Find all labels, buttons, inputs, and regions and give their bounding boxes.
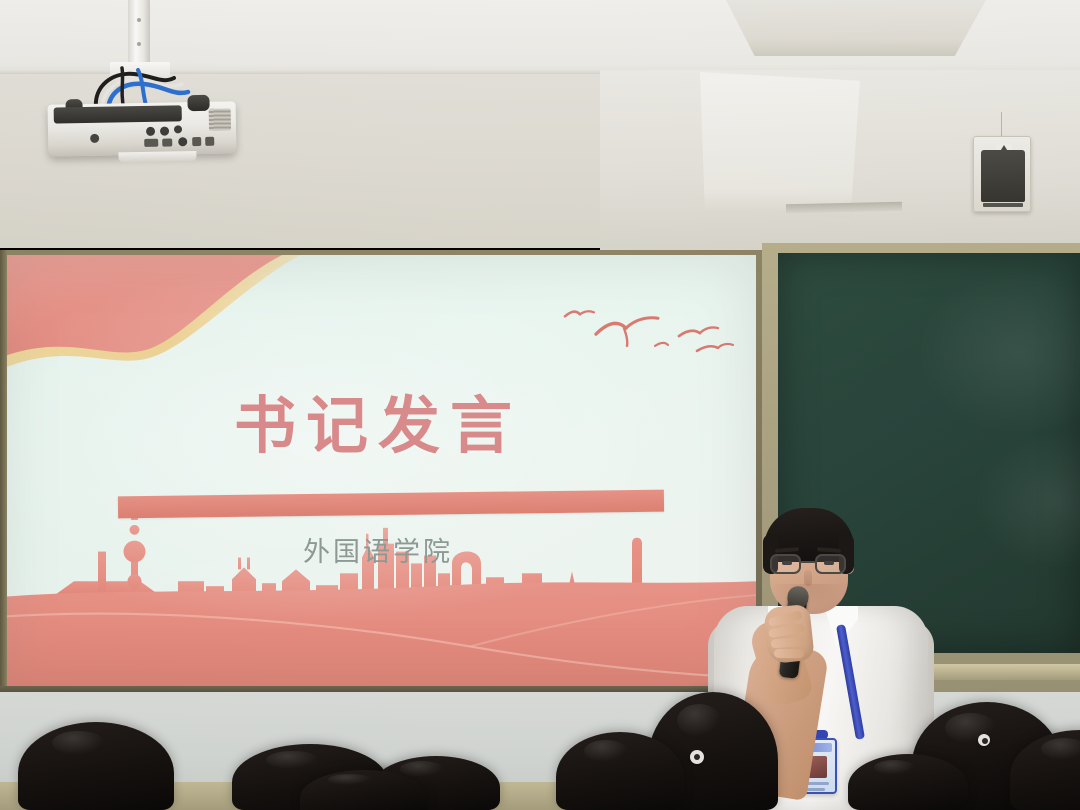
- wall-speaker-panel[interactable]: [973, 136, 1031, 212]
- mount-bolt: [137, 18, 141, 22]
- projected-slide: 书记发言 外国语学院: [0, 255, 756, 686]
- birds-icon: [565, 311, 733, 351]
- nose: [804, 570, 812, 586]
- projector-mount-pole: [128, 0, 150, 66]
- student-head: [848, 754, 968, 810]
- hair-clip: [978, 734, 990, 746]
- projector-top-grille: [54, 105, 182, 123]
- ceiling-beam: [726, 0, 986, 56]
- ceiling-projector: [48, 101, 237, 156]
- projection-screen-frame: 书记发言 外国语学院: [0, 250, 762, 692]
- projector-ports: [144, 123, 232, 149]
- lens-left: [770, 554, 801, 574]
- lens-right: [815, 554, 846, 574]
- hand: [763, 604, 815, 665]
- screen-housing-panel: [700, 72, 860, 218]
- projector-lens: [118, 151, 196, 162]
- classroom-photo: 书记发言 外国语学院: [0, 0, 1080, 810]
- wall-speaker-wire: [1001, 112, 1002, 138]
- face-shading: [772, 584, 846, 606]
- slide-title: 书记发言: [0, 375, 756, 465]
- projector-knob: [187, 95, 209, 111]
- hair-clip: [690, 750, 704, 764]
- screen-left-edge: [0, 250, 7, 695]
- wall-speaker-face: [981, 150, 1025, 202]
- glasses-bridge: [801, 561, 815, 563]
- slide-decoration: [0, 255, 756, 686]
- mount-bolt: [137, 42, 141, 46]
- wall-speaker-slot: [983, 203, 1023, 207]
- slide-subtitle: 外国语学院: [0, 530, 756, 569]
